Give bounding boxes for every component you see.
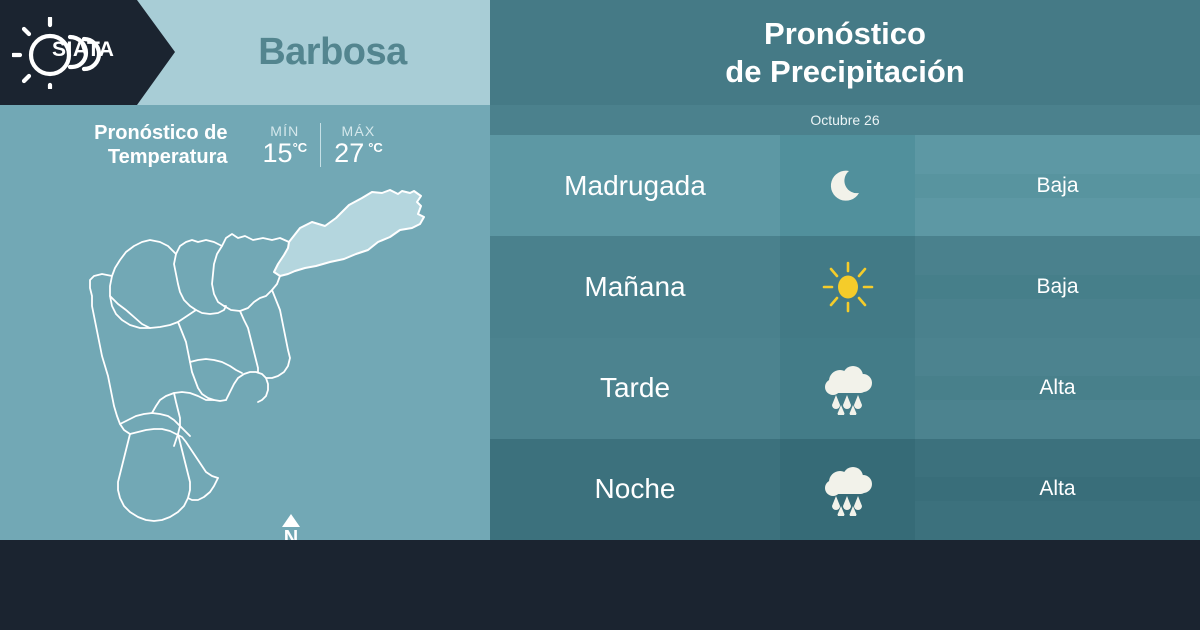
temperature-max-unit: °C bbox=[368, 140, 383, 155]
temperature-values: MÍN 15°C MÁX 27°C bbox=[250, 123, 396, 167]
temperature-max-value: 27°C bbox=[334, 140, 383, 167]
siata-logo-text: SIATA bbox=[52, 38, 114, 62]
temperature-max-label: MÁX bbox=[334, 123, 383, 139]
forecast-probability: Alta bbox=[915, 477, 1200, 501]
forecast-row-noche[interactable]: Noche bbox=[490, 439, 1200, 540]
temperature-min: MÍN 15°C bbox=[250, 123, 321, 167]
forecast-probability: Alta bbox=[915, 376, 1200, 400]
aburra-valley-map[interactable]: N bbox=[0, 180, 490, 540]
right-panel: Pronóstico de Precipitación Octubre 26 M… bbox=[490, 0, 1200, 540]
forecast-period-label: Mañana bbox=[490, 271, 780, 303]
temperature-title: Pronóstico de Temperatura bbox=[94, 121, 227, 170]
temperature-min-value: 15°C bbox=[263, 140, 308, 167]
temperature-title-line2: Temperatura bbox=[94, 145, 227, 169]
map-region-highlight bbox=[274, 190, 424, 276]
precipitation-title-line2: de Precipitación bbox=[725, 53, 964, 91]
forecast-row-tarde[interactable]: Tarde bbox=[490, 338, 1200, 439]
forecast-date: Octubre 26 bbox=[810, 112, 879, 128]
sun-icon bbox=[780, 236, 915, 337]
temperature-min-label: MÍN bbox=[263, 123, 308, 139]
precipitation-title: Pronóstico de Precipitación bbox=[725, 15, 964, 91]
moon-icon bbox=[780, 135, 915, 236]
rain-cloud-icon bbox=[780, 338, 915, 439]
forecast-row-madrugada[interactable]: Madrugada Baja bbox=[490, 135, 1200, 236]
weather-forecast-card: SIATA Barbosa Pronóstico de Temperatura … bbox=[0, 0, 1200, 630]
left-panel: SIATA Barbosa Pronóstico de Temperatura … bbox=[0, 0, 490, 540]
forecast-date-strip: Octubre 26 bbox=[490, 105, 1200, 135]
forecast-rows: Madrugada Baja Mañana bbox=[490, 135, 1200, 540]
temperature-min-unit: °C bbox=[293, 140, 308, 155]
forecast-row-manana[interactable]: Mañana bbox=[490, 236, 1200, 337]
temperature-max: MÁX 27°C bbox=[320, 123, 396, 167]
precipitation-header: Pronóstico de Precipitación bbox=[490, 0, 1200, 105]
map-svg bbox=[0, 180, 490, 540]
city-title: Barbosa bbox=[175, 0, 490, 105]
forecast-period-label: Madrugada bbox=[490, 170, 780, 202]
forecast-period-label: Tarde bbox=[490, 372, 780, 404]
temperature-block: Pronóstico de Temperatura MÍN 15°C MÁX 2… bbox=[0, 105, 490, 185]
forecast-probability: Baja bbox=[915, 174, 1200, 198]
forecast-probability: Baja bbox=[915, 275, 1200, 299]
north-arrow-triangle bbox=[282, 514, 300, 527]
footer: @siatamedellin www.siata.gov.co Con el a… bbox=[0, 540, 1200, 630]
forecast-period-label: Noche bbox=[490, 473, 780, 505]
map-region-outlines bbox=[90, 234, 290, 521]
rain-cloud-icon bbox=[780, 439, 915, 540]
temperature-title-line1: Pronóstico de bbox=[94, 121, 227, 145]
precipitation-title-line1: Pronóstico bbox=[725, 15, 964, 53]
